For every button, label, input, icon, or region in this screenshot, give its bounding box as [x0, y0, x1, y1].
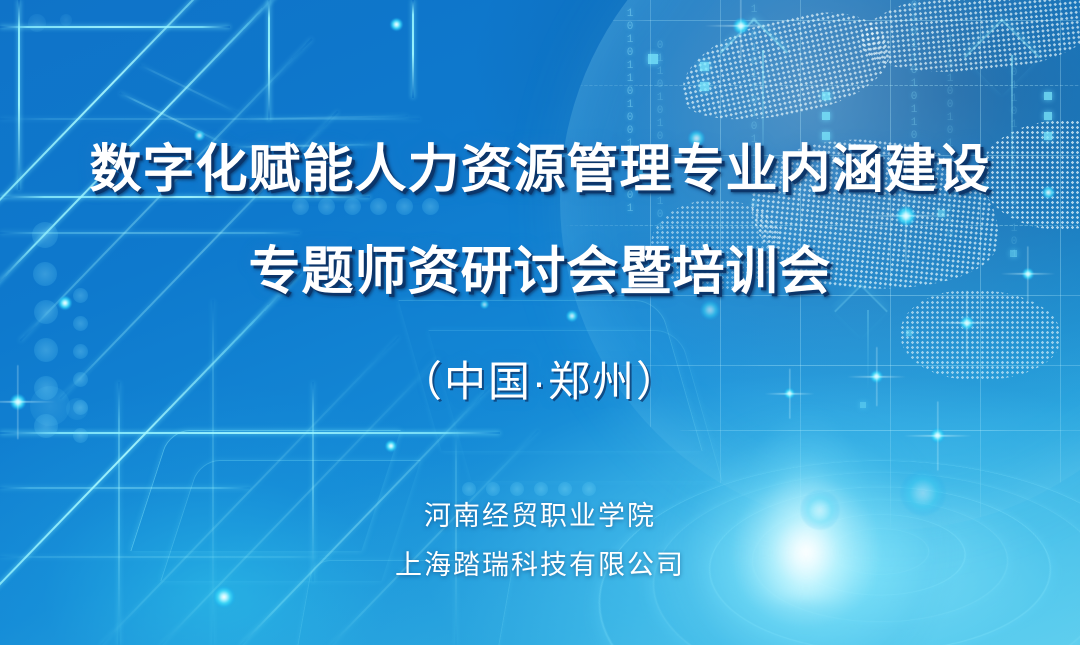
banner-location: （中国·郑州） [400, 348, 680, 409]
organizer-line-1: 河南经贸职业学院 [424, 494, 656, 533]
conference-banner: 1010110100101101 0110101001101011 100101… [0, 0, 1080, 645]
banner-title-line-1: 数字化赋能人力资源管理专业内涵建设 [89, 127, 990, 202]
banner-title-line-2: 专题师资研讨会暨培训会 [248, 229, 831, 304]
organizer-block: 河南经贸职业学院 上海踏瑞科技有限公司 [395, 494, 685, 582]
organizer-line-2: 上海踏瑞科技有限公司 [395, 543, 685, 582]
banner-text-stack: 数字化赋能人力资源管理专业内涵建设 专题师资研讨会暨培训会 （中国·郑州） 河南… [0, 0, 1080, 645]
